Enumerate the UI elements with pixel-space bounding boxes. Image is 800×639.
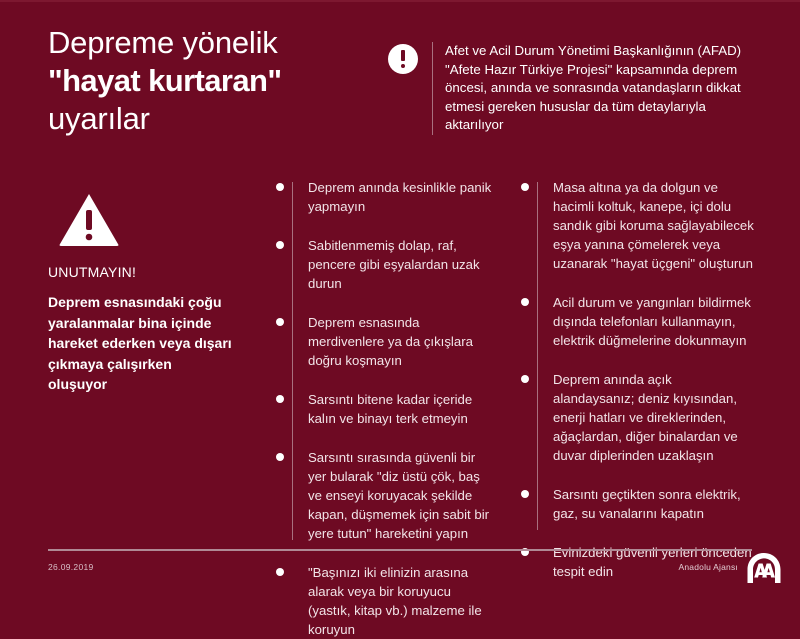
header-note-divider <box>432 42 433 135</box>
list-item-text: Sarsıntı sırasında güvenli bir yer bular… <box>308 450 489 541</box>
poster-footer: 26.09.2019 Anadolu Ajansı <box>0 542 800 602</box>
list-item-text: Masa altına ya da dolgun ve hacimli kolt… <box>553 180 754 271</box>
list-item: Sarsıntı sırasında güvenli bir yer bular… <box>270 448 495 543</box>
footer-brand-text: Anadolu Ajansı <box>678 562 738 572</box>
list-item: Sabitlenmemiş dolap, raf, pencere gibi e… <box>270 236 495 293</box>
bullet-dot-icon <box>521 375 529 383</box>
page-title-line-3: uyarılar <box>48 100 378 138</box>
header-note: Afet ve Acil Durum Yönetimi Başkanlığını… <box>388 42 748 135</box>
bullet-dot-icon <box>276 395 284 403</box>
footer-date: 26.09.2019 <box>48 562 94 572</box>
page-title-line-2: "hayat kurtaran" <box>48 62 378 100</box>
list-item: Sarsıntı bitene kadar içeride kalın ve b… <box>270 390 495 428</box>
page-title-line-1: Depreme yönelik <box>48 24 378 62</box>
bullet-dot-icon <box>521 298 529 306</box>
warning-panel-body: Deprem esnasındaki çoğu yaralanmalar bin… <box>48 292 233 395</box>
bullet-dot-icon <box>276 453 284 461</box>
bullet-dot-icon <box>276 318 284 326</box>
bullet-dot-icon <box>521 183 529 191</box>
list-item: Deprem esnasında merdivenlere ya da çıkı… <box>270 313 495 370</box>
list-item: Masa altına ya da dolgun ve hacimli kolt… <box>515 178 755 273</box>
bullet-column-2: Masa altına ya da dolgun ve hacimli kolt… <box>515 178 755 581</box>
list-item: Acil durum ve yangınları bildirmek dışın… <box>515 293 755 350</box>
list-item: Deprem anında kesinlikle panik yapmayın <box>270 178 495 216</box>
warning-panel-heading: UNUTMAYIN! <box>48 264 233 280</box>
exclamation-circle-icon <box>388 44 418 74</box>
list-item: Deprem anında açık alandaysanız; deniz k… <box>515 370 755 465</box>
bullet-dot-icon <box>276 183 284 191</box>
list-item-text: Deprem anında kesinlikle panik yapmayın <box>308 180 491 214</box>
list-item-text: Sabitlenmemiş dolap, raf, pencere gibi e… <box>308 238 480 291</box>
warning-panel: UNUTMAYIN! Deprem esnasındaki çoğu yaral… <box>48 192 233 395</box>
poster-header: Depreme yönelik "hayat kurtaran" uyarıla… <box>0 2 800 162</box>
footer-divider <box>48 549 752 551</box>
bullet-dot-icon <box>276 241 284 249</box>
list-item-text: Deprem anında açık alandaysanız; deniz k… <box>553 372 738 463</box>
infographic-poster: Depreme yönelik "hayat kurtaran" uyarıla… <box>0 0 800 602</box>
bullet-dot-icon <box>521 490 529 498</box>
list-item-text: Sarsıntı bitene kadar içeride kalın ve b… <box>308 392 472 426</box>
anadolu-ajansi-logo <box>746 552 782 584</box>
list-item: Sarsıntı geçtikten sonra elektrik, gaz, … <box>515 485 755 523</box>
list-item-text: Acil durum ve yangınları bildirmek dışın… <box>553 295 751 348</box>
page-title: Depreme yönelik "hayat kurtaran" uyarıla… <box>48 24 378 138</box>
warning-triangle-icon <box>58 192 120 247</box>
header-note-text: Afet ve Acil Durum Yönetimi Başkanlığını… <box>445 42 748 135</box>
list-item-text: Sarsıntı geçtikten sonra elektrik, gaz, … <box>553 487 741 521</box>
list-item-text: Deprem esnasında merdivenlere ya da çıkı… <box>308 315 473 368</box>
